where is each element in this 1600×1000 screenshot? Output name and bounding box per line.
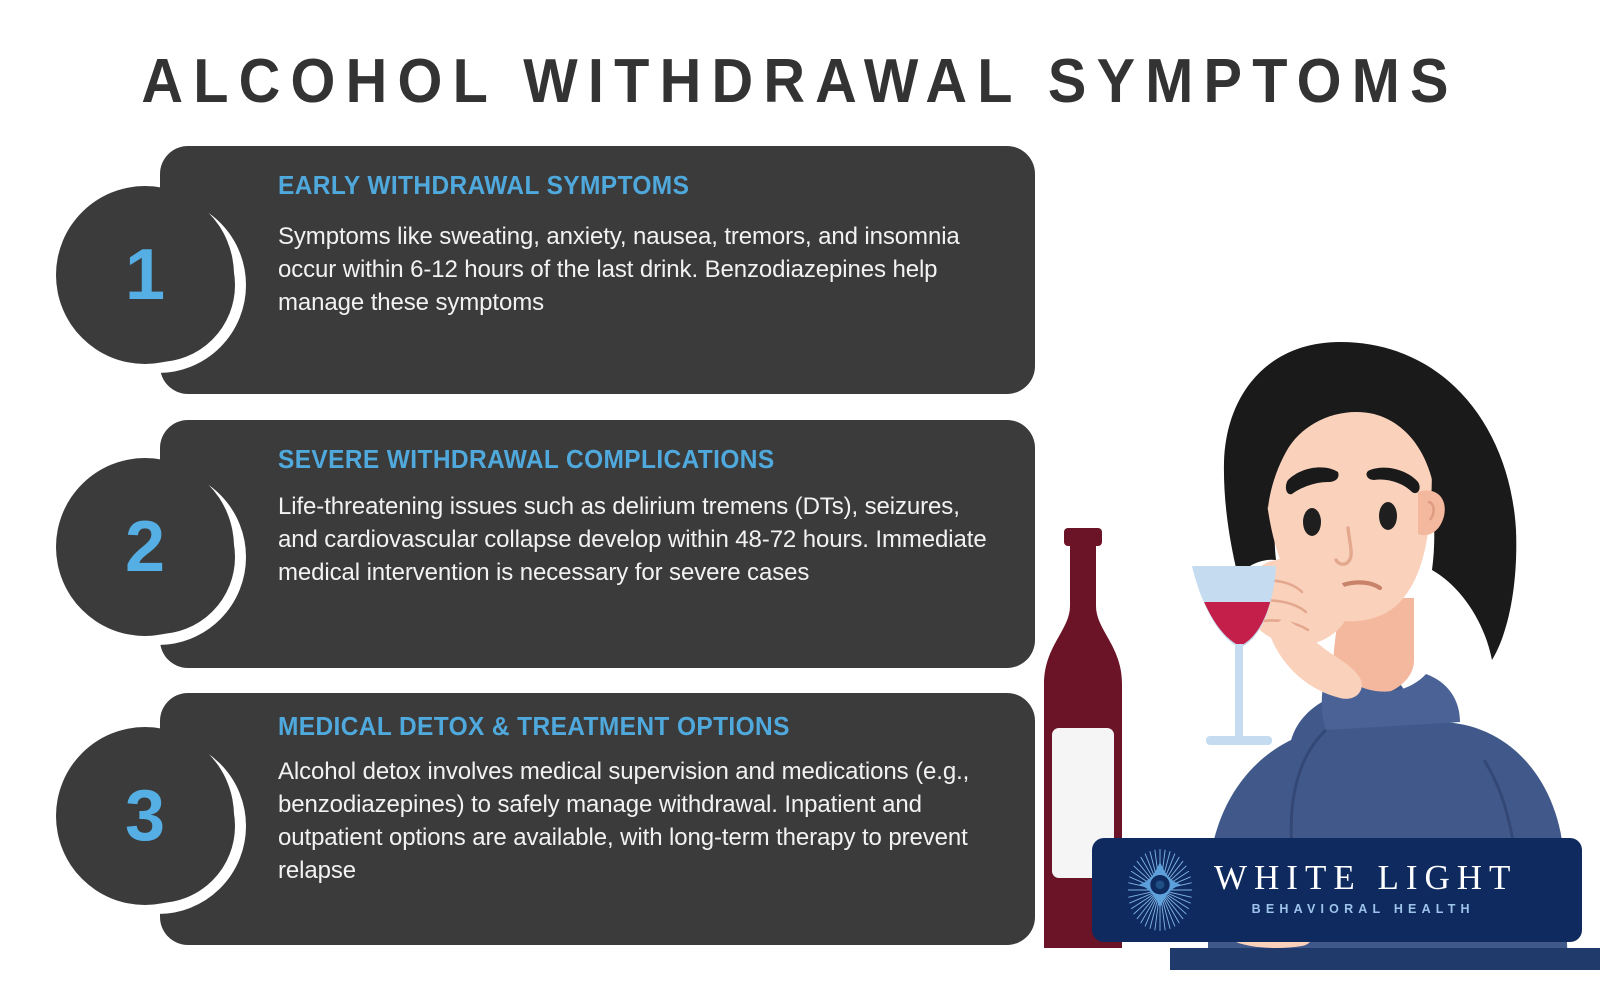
card-heading: SEVERE WITHDRAWAL COMPLICATIONS xyxy=(278,446,961,475)
step-number-badge-3: 3 xyxy=(56,727,256,927)
logo-name: WHITE LIGHT xyxy=(1214,860,1517,897)
badge-number: 2 xyxy=(56,458,234,636)
glass-stem xyxy=(1235,644,1243,740)
card-severe-complications: SEVERE WITHDRAWAL COMPLICATIONS Life-thr… xyxy=(160,420,1035,668)
wine-glass-icon xyxy=(1186,566,1286,745)
glass-base xyxy=(1206,736,1272,745)
badge-number: 3 xyxy=(56,727,234,905)
card-body: Life-threatening issues such as delirium… xyxy=(278,491,989,590)
card-medical-detox: MEDICAL DETOX & TREATMENT OPTIONS Alcoho… xyxy=(160,693,1035,945)
card-body: Alcohol detox involves medical supervisi… xyxy=(278,756,989,888)
step-number-badge-2: 2 xyxy=(56,458,256,658)
eye-right xyxy=(1379,502,1397,530)
logo-tagline: BEHAVIORAL HEALTH xyxy=(1214,902,1512,916)
card-early-withdrawal: EARLY WITHDRAWAL SYMPTOMS Symptoms like … xyxy=(160,146,1035,394)
card-heading: MEDICAL DETOX & TREATMENT OPTIONS xyxy=(278,713,961,742)
starburst-icon xyxy=(1116,846,1204,934)
card-heading: EARLY WITHDRAWAL SYMPTOMS xyxy=(278,172,961,201)
badge-number: 1 xyxy=(56,186,234,364)
step-number-badge-1: 1 xyxy=(56,186,256,386)
white-light-logo-banner[interactable]: WHITE LIGHT BEHAVIORAL HEALTH xyxy=(1092,838,1582,942)
logo-wordmark: WHITE LIGHT BEHAVIORAL HEALTH xyxy=(1214,860,1517,920)
table-surface xyxy=(1170,948,1600,970)
card-body: Symptoms like sweating, anxiety, nausea,… xyxy=(278,221,989,320)
eye-left xyxy=(1303,508,1321,536)
page-title: ALCOHOL WITHDRAWAL SYMPTOMS xyxy=(56,46,1544,117)
